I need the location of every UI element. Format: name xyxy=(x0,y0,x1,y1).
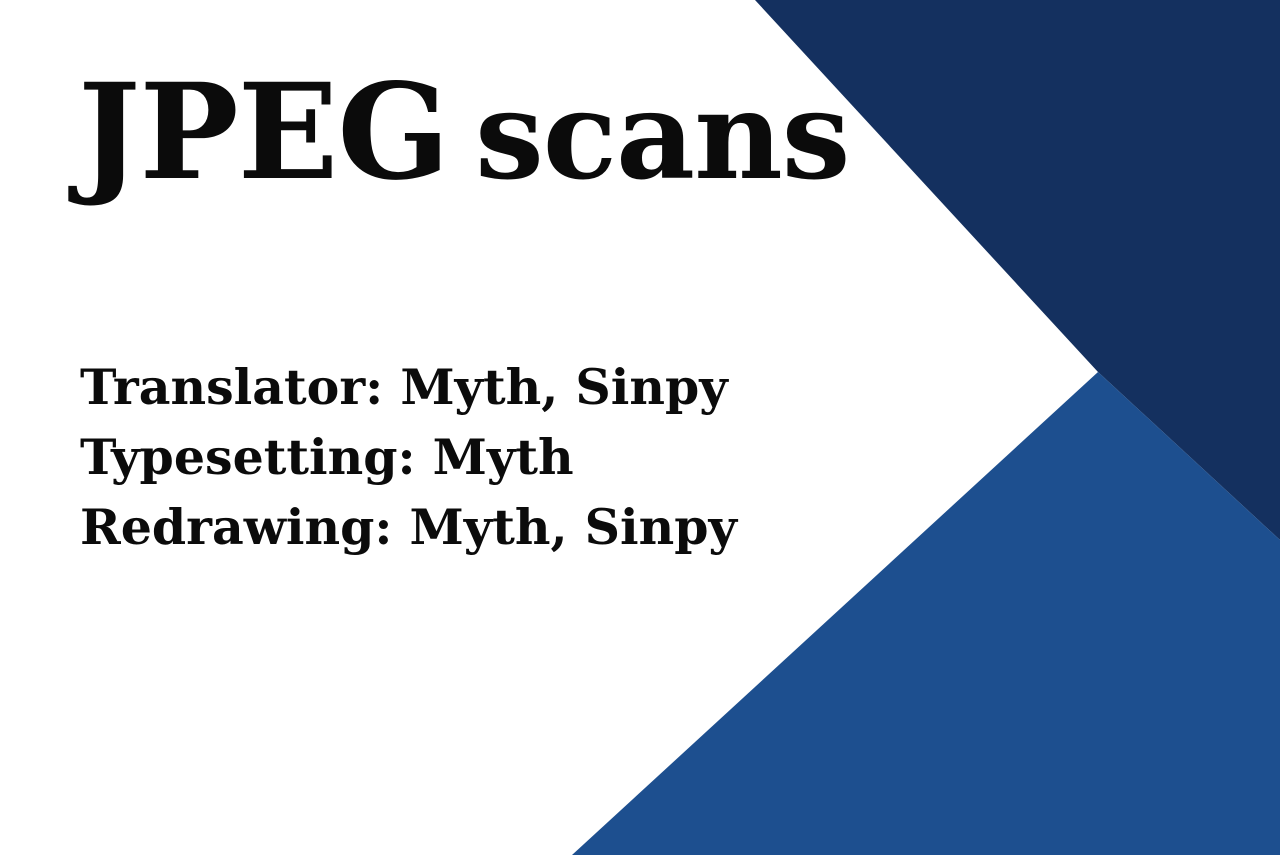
page-title-main: JPEG xyxy=(78,55,449,210)
credit-line-translator: Translator: Myth, Sinpy xyxy=(80,352,737,422)
credit-line-typesetting: Typesetting: Myth xyxy=(80,422,737,492)
credit-line-typesetting-text: Typesetting: Myth xyxy=(80,428,574,486)
page-title: JPEGscans xyxy=(78,62,849,205)
credit-line-redrawing-text: Redrawing: Myth, Sinpy xyxy=(80,498,737,556)
credits-list: Translator: Myth, Sinpy Typesetting: Myt… xyxy=(80,352,737,562)
credit-line-redrawing: Redrawing: Myth, Sinpy xyxy=(80,492,737,562)
content-area: JPEGscans Translator: Myth, Sinpy Typese… xyxy=(0,0,1280,855)
credit-line-translator-text: Translator: Myth, Sinpy xyxy=(80,358,728,416)
page-title-sub: scans xyxy=(475,63,849,207)
credits-page: JPEGscans Translator: Myth, Sinpy Typese… xyxy=(0,0,1280,855)
